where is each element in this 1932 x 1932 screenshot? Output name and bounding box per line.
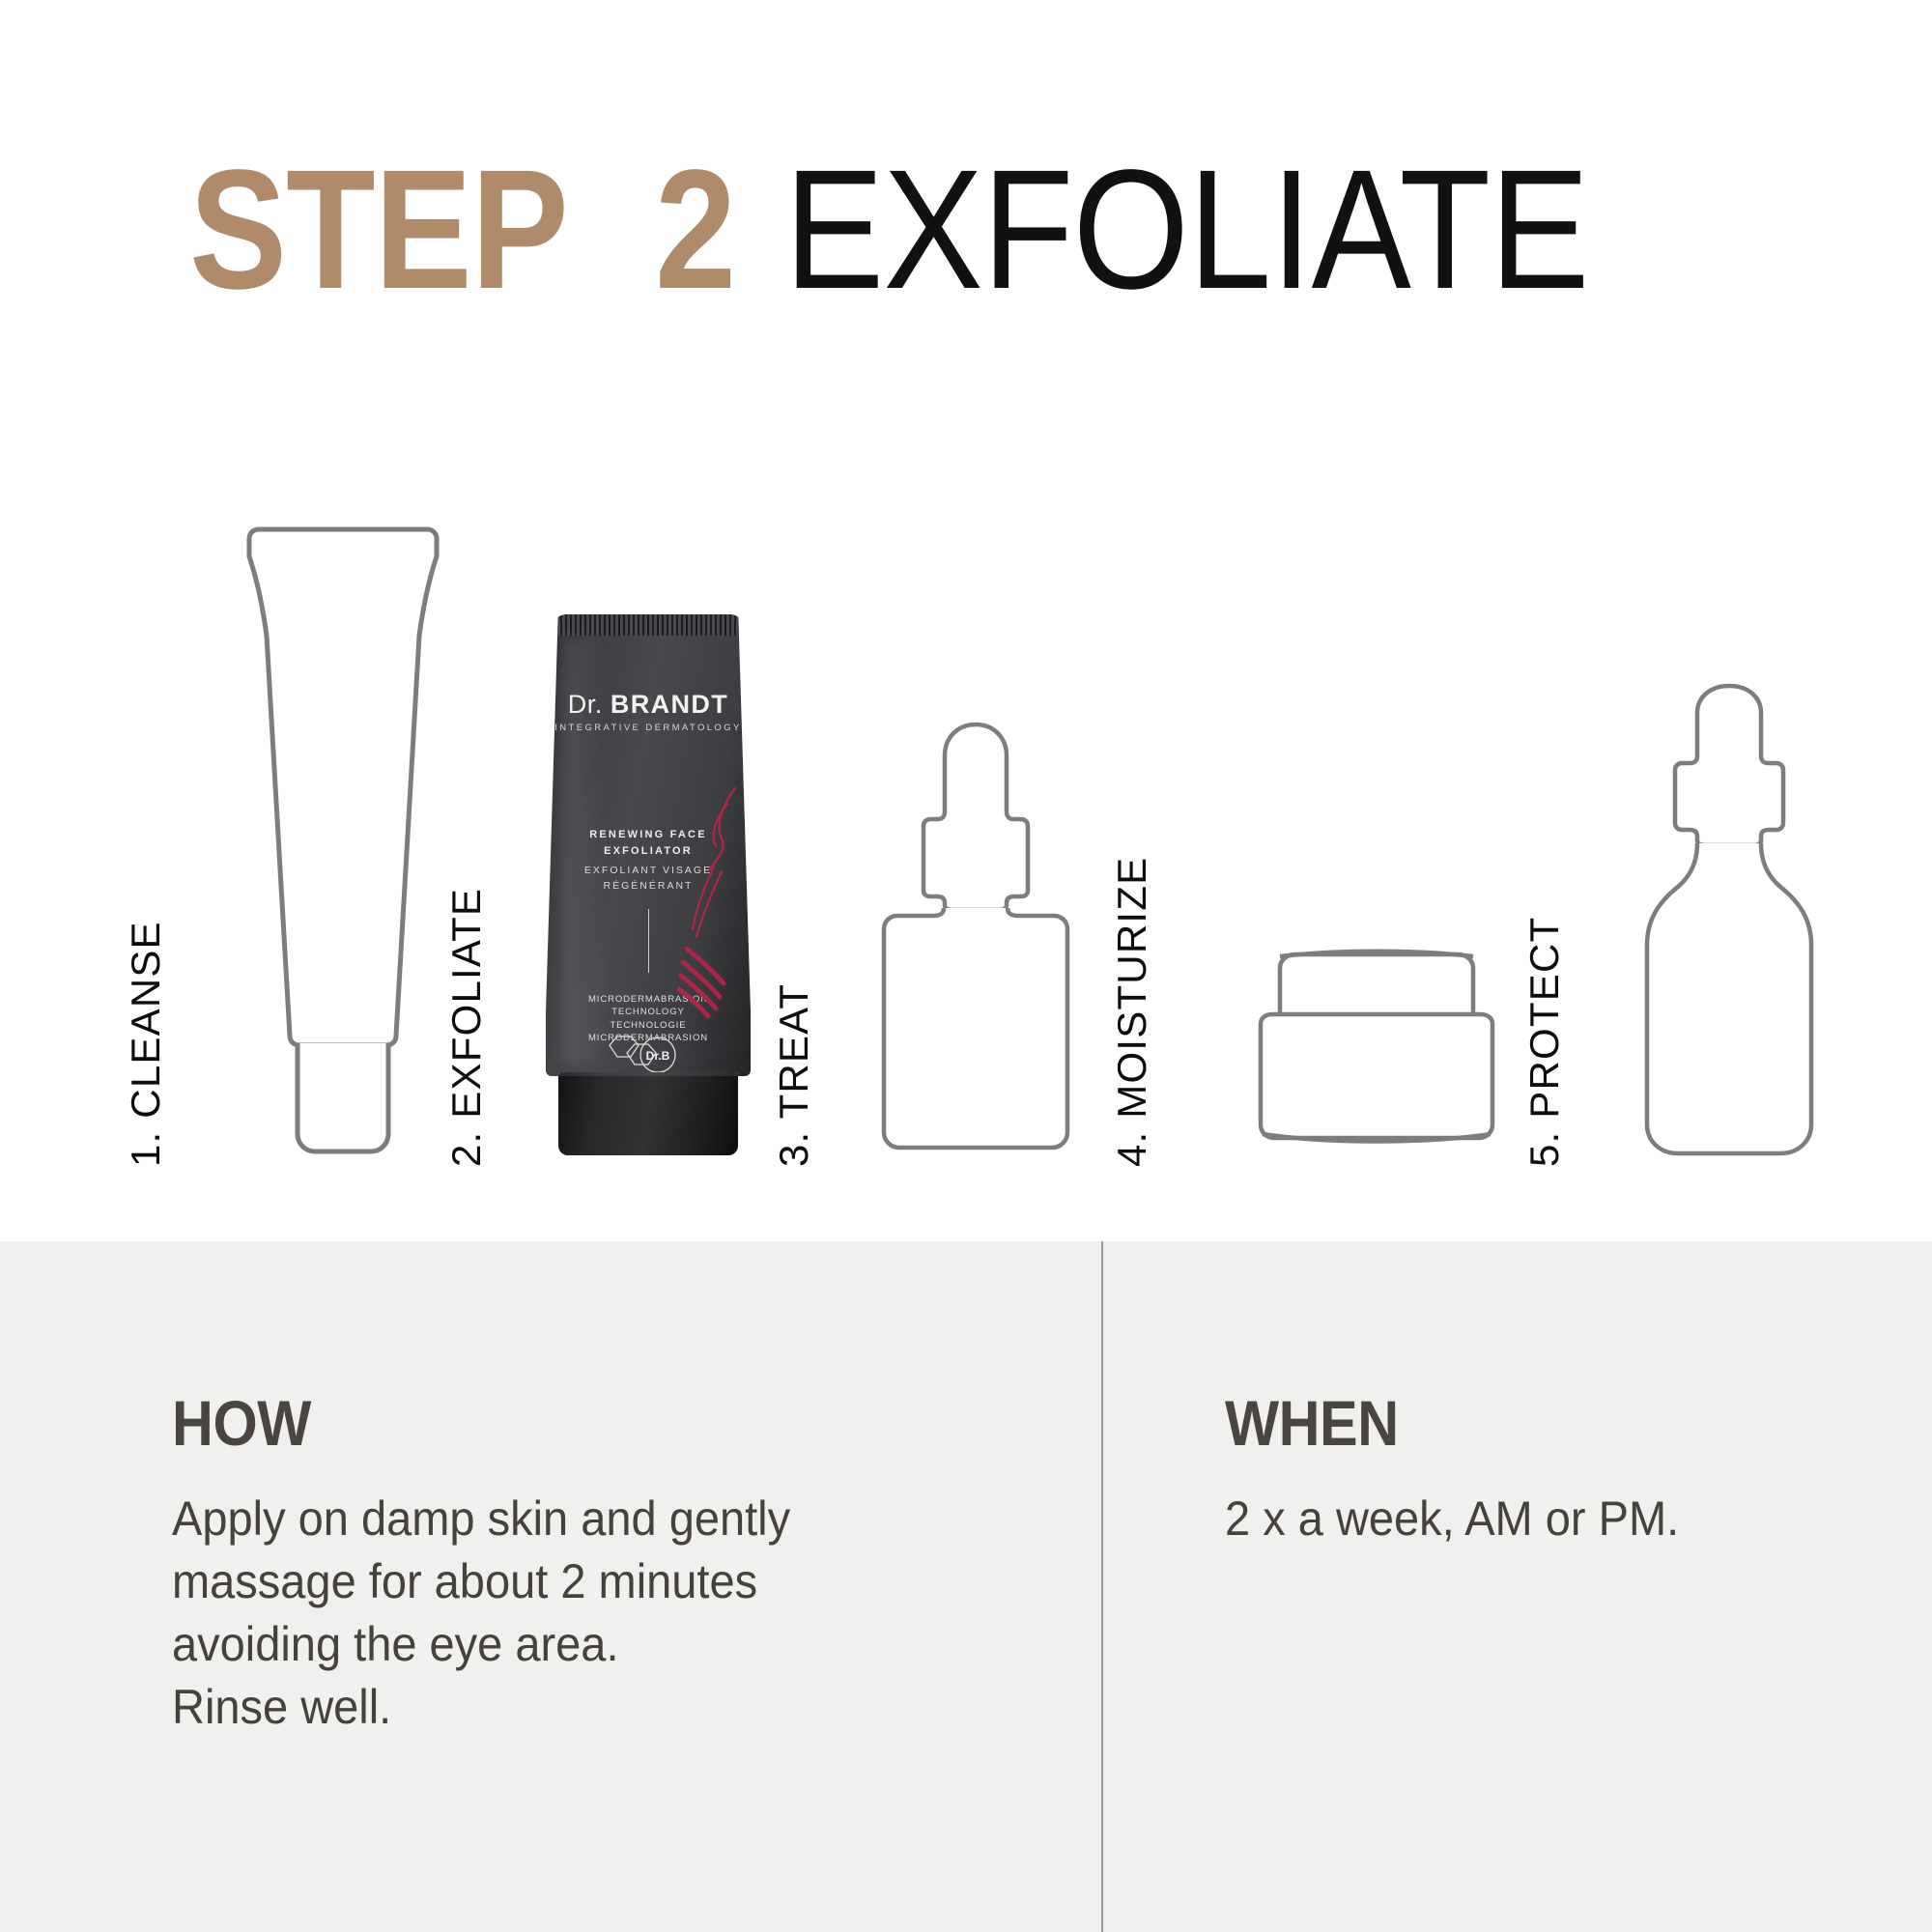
step-number: 2 [655, 145, 736, 315]
when-heading: WHEN [1225, 1391, 1833, 1455]
how-line-4: Rinse well. [172, 1676, 989, 1739]
tube-cap [558, 1072, 738, 1155]
product-tagline: INTEGRATIVE DERMATOLOGY [546, 723, 751, 733]
brand-prefix: Dr. [568, 690, 603, 719]
how-line-2: massage for about 2 minutes [172, 1550, 989, 1613]
routine-step-label-cleanse: 1. CLEANSE [126, 921, 166, 1167]
when-body: 2 x a week, AM or PM. [1225, 1488, 1861, 1550]
tube-crimp [546, 614, 751, 636]
how-column: HOW Apply on damp skin and gently massag… [172, 1391, 1041, 1739]
how-body: Apply on damp skin and gently massage fo… [172, 1488, 989, 1739]
script-signature-icon [671, 779, 747, 1030]
product-brand: Dr. BRANDT [546, 690, 751, 720]
panel-divider [1101, 1241, 1103, 1932]
routine-lineup: 1. CLEANSE 2. EXFOLIATE Dr. BRANDT [0, 464, 1932, 1179]
page-title: STEP 2 EXFOLIATE [189, 145, 1698, 315]
brand-name: BRANDT [611, 690, 728, 719]
label-divider [648, 909, 649, 973]
how-line-1: Apply on damp skin and gently [172, 1488, 989, 1550]
routine-step-label-protect: 5. PROTECT [1524, 917, 1565, 1167]
routine-step-label-moisturize: 4. MOISTURIZE [1112, 857, 1152, 1167]
dropper-bottle-outline-icon [876, 715, 1084, 1159]
tube-outline-icon [222, 524, 464, 1161]
tube-body: Dr. BRANDT INTEGRATIVE DERMATOLOGY RENEW… [546, 614, 751, 1076]
jar-outline-icon [1251, 945, 1502, 1157]
step-label: STEP [189, 145, 568, 315]
routine-step-exfoliate[interactable]: 2. EXFOLIATE Dr. BRANDT INTEGRATIVE DERM… [473, 502, 782, 1179]
when-column: WHEN 2 x a week, AM or PM. [1225, 1391, 1901, 1550]
product-tube-image: Dr. BRANDT INTEGRATIVE DERMATOLOGY RENEW… [546, 614, 751, 1155]
routine-step-label-exfoliate: 2. EXFOLIATE [446, 888, 487, 1167]
routine-step-moisturize[interactable]: 4. MOISTURIZE [1145, 502, 1473, 1179]
svg-text:Dr.B: Dr.B [646, 1049, 670, 1063]
how-line-3: avoiding the eye area. [172, 1613, 989, 1676]
drb-logo-icon: Dr.B [604, 1032, 693, 1074]
when-line-1: 2 x a week, AM or PM. [1225, 1488, 1861, 1550]
routine-step-label-treat: 3. TREAT [774, 983, 814, 1167]
how-heading: HOW [172, 1391, 954, 1455]
routine-step-cleanse[interactable]: 1. CLEANSE [145, 502, 464, 1179]
routine-step-protect[interactable]: 5. PROTECT [1546, 502, 1874, 1179]
tall-dropper-bottle-outline-icon [1637, 678, 1821, 1161]
routine-step-treat[interactable]: 3. TREAT [797, 502, 1106, 1179]
step-title: EXFOLIATE [784, 145, 1589, 315]
